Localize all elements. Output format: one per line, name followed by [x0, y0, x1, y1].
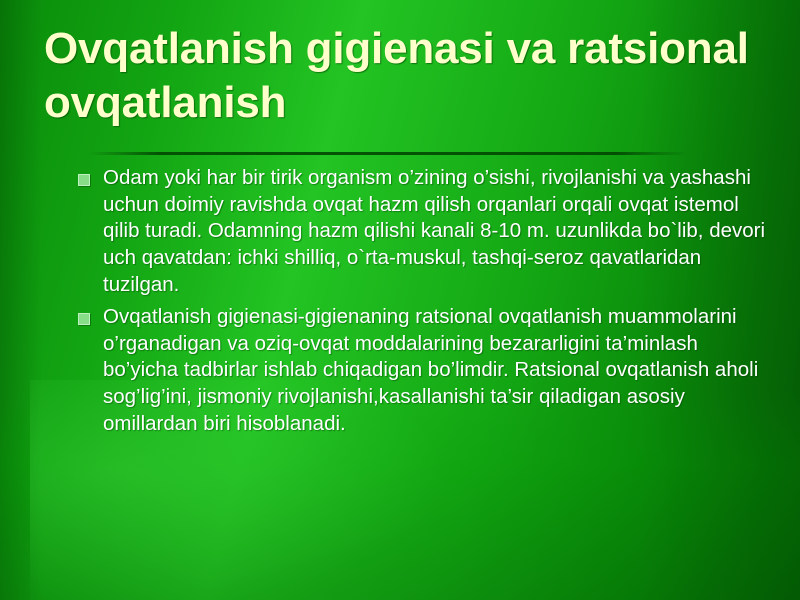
list-item-text: Odam yoki har bir tirik organism o’zinin…: [103, 165, 778, 298]
slide-title: Ovqatlanish gigienasi va ratsional ovqat…: [44, 22, 760, 129]
background-band-left: [0, 0, 42, 600]
list-item-text: Ovqatlanish gigienasi-gigienaning ratsio…: [103, 304, 778, 437]
slide-body: Odam yoki har bir tirik organism o’zinin…: [78, 165, 778, 443]
title-divider: [88, 152, 688, 155]
square-bullet-icon: [78, 313, 90, 325]
slide: Ovqatlanish gigienasi va ratsional ovqat…: [0, 0, 800, 600]
list-item: Odam yoki har bir tirik organism o’zinin…: [78, 165, 778, 298]
square-bullet-icon: [78, 174, 90, 186]
list-item: Ovqatlanish gigienasi-gigienaning ratsio…: [78, 304, 778, 437]
